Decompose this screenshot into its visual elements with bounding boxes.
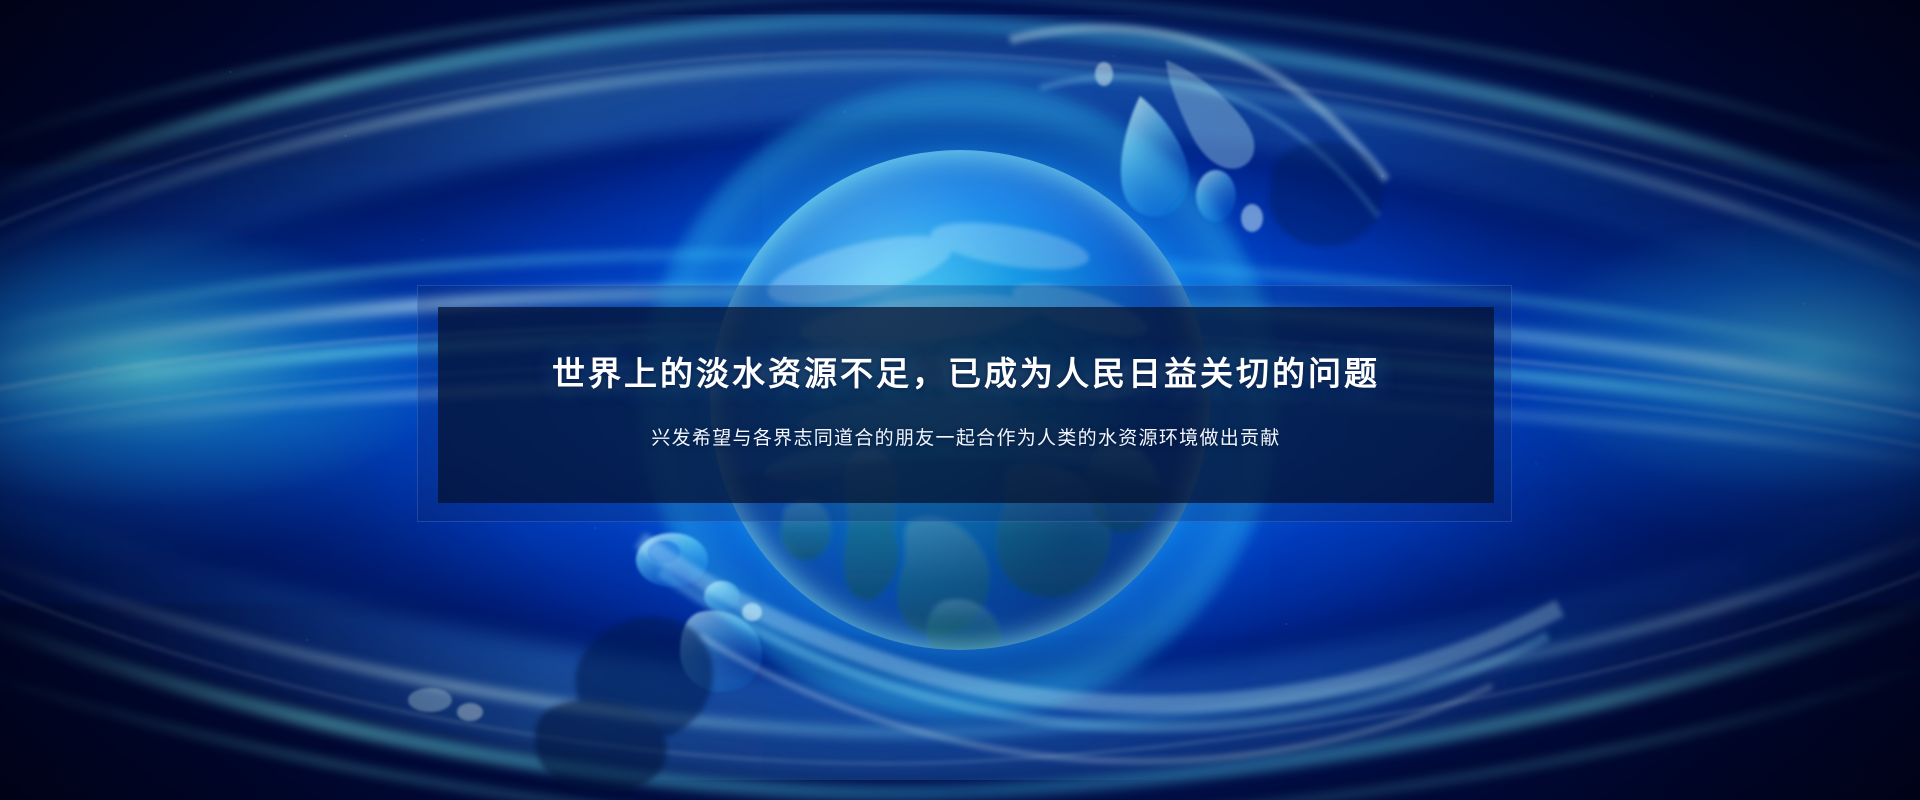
overlay-text-panel: 世界上的淡水资源不足，已成为人民日益关切的问题 兴发希望与各界志同道合的朋友一起… — [438, 307, 1494, 503]
hero-banner: 世界上的淡水资源不足，已成为人民日益关切的问题 兴发希望与各界志同道合的朋友一起… — [0, 0, 1920, 800]
banner-headline: 世界上的淡水资源不足，已成为人民日益关切的问题 — [552, 354, 1380, 394]
banner-subtitle: 兴发希望与各界志同道合的朋友一起合作为人类的水资源环境做出贡献 — [651, 427, 1280, 452]
